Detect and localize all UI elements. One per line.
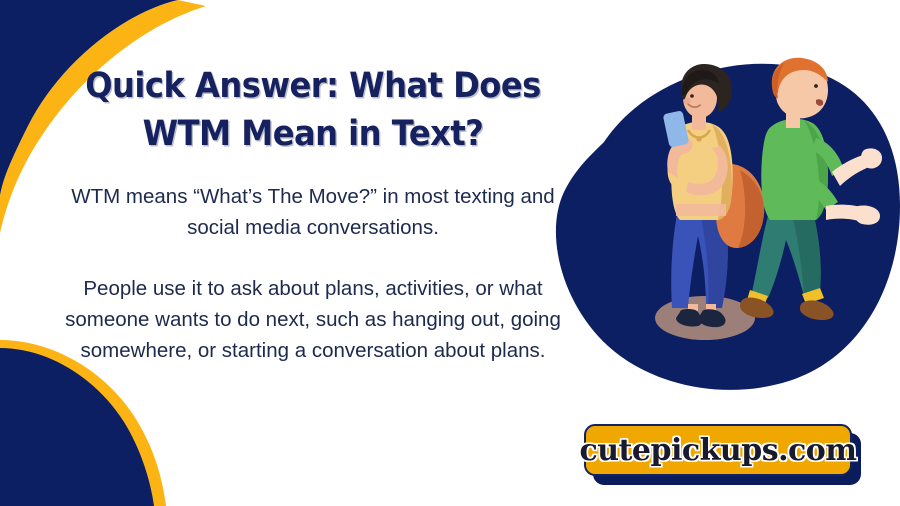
site-logo-badge[interactable]: cutepickups.com (584, 424, 852, 476)
people-figures (540, 46, 900, 396)
page-title-line-2: WTM Mean in Text? (143, 114, 484, 154)
smartphone (663, 110, 690, 147)
man-shoe-front (800, 300, 834, 320)
badge-label: cutepickups.com (579, 433, 856, 468)
text-column: Quick Answer: What Does WTM Mean in Text… (58, 62, 568, 366)
badge-face[interactable]: cutepickups.com (584, 424, 852, 476)
man-gesturing (740, 58, 882, 320)
woman-necklace-pendant (696, 136, 701, 141)
body-paragraph-2: People use it to ask about plans, activi… (58, 273, 568, 366)
woman-eye (690, 94, 694, 98)
woman-blush (684, 98, 691, 105)
man-tshirt (761, 119, 828, 220)
body-paragraph-1: WTM means “What’s The Move?” in most tex… (58, 181, 568, 243)
man-eye (814, 84, 818, 88)
woman-midriff (676, 204, 726, 216)
page-title-line-1: Quick Answer: What Does (85, 66, 541, 106)
page-title: Quick Answer: What Does WTM Mean in Text… (78, 62, 547, 159)
illustration (540, 46, 900, 396)
bottom-left-navy-shape (0, 348, 154, 506)
woman-with-phone (663, 64, 765, 327)
man-hand-lower (854, 205, 880, 224)
graphic-canvas: Quick Answer: What Does WTM Mean in Text… (0, 0, 900, 506)
